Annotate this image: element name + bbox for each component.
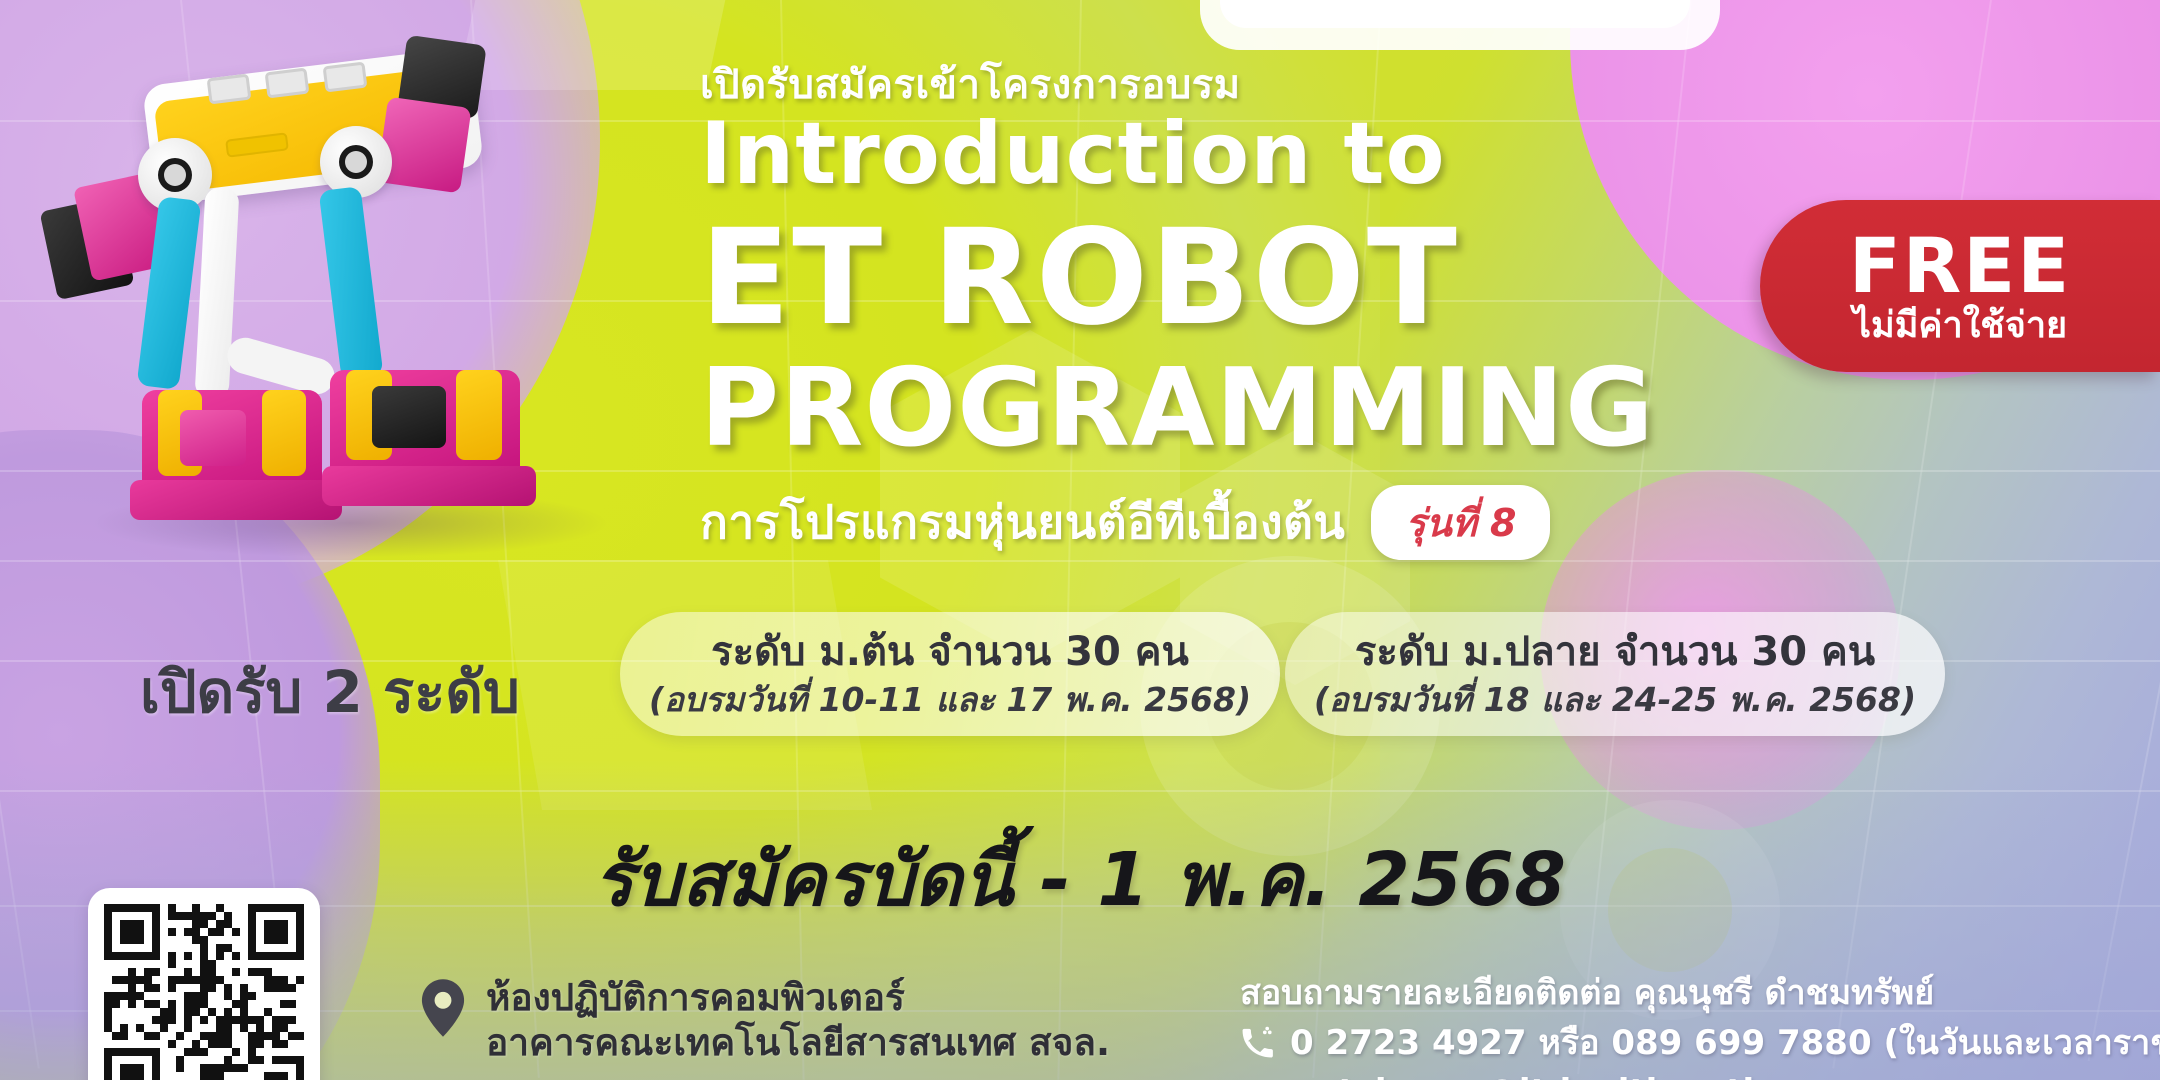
venue-line-2: อาคารคณะเทคโนโลยีสารสนเทศ สจล. [486, 1020, 1110, 1065]
title-line-3: PROGRAMMING [700, 355, 1655, 463]
lego-robot-photo [30, 18, 670, 578]
level-card-senior: ระดับ ม.ปลาย จำนวน 30 คน (อบรมวันที่ 18 … [1285, 612, 1945, 736]
subtitle-row: การโปรแกรมหุ่นยนต์อีทีเบื้องต้น รุ่นที่ … [700, 485, 1550, 560]
venue-line-1: ห้องปฏิบัติการคอมพิวเตอร์ [486, 975, 1110, 1020]
free-badge: FREE ไม่มีค่าใช้จ่าย [1760, 200, 2160, 372]
contact-phone: 0 2723 4927 หรือ 089 699 7880 (ในวันและเ… [1290, 1022, 2160, 1065]
contact-heading: สอบถามรายละเอียดติดต่อ คุณนุชรี ดำชมทรัพ… [1240, 972, 2160, 1015]
subtitle-thai: การโปรแกรมหุ่นยนต์อีทีเบื้องต้น [700, 486, 1345, 559]
venue-block: ห้องปฏิบัติการคอมพิวเตอร์ อาคารคณะเทคโนโ… [420, 975, 1110, 1065]
contact-block: สอบถามรายละเอียดติดต่อ คุณนุชรี ดำชมทรัพ… [1240, 972, 2160, 1080]
envelope-icon [1240, 1075, 1274, 1080]
contact-phone-row[interactable]: 0 2723 4927 หรือ 089 699 7880 (ในวันและเ… [1240, 1022, 2160, 1065]
levels-label: เปิดรับ 2 ระดับ [140, 645, 520, 738]
level-dates: (อบรมวันที่ 10-11 และ 17 พ.ค. 2568) [649, 680, 1251, 720]
level-title: ระดับ ม.ต้น จำนวน 30 คน [711, 629, 1189, 675]
title-line-1: Introduction to [700, 104, 1446, 204]
free-badge-label-en: FREE [1849, 228, 2071, 304]
batch-badge: รุ่นที่ 8 [1371, 485, 1550, 560]
promo-poster: เปิดรับสมัครเข้าโครงการอบรม Introduction… [0, 0, 2160, 1080]
phone-icon [1240, 1026, 1274, 1060]
registration-qr-code[interactable] [88, 888, 320, 1080]
level-dates: (อบรมวันที่ 18 และ 24-25 พ.ค. 2568) [1314, 680, 1916, 720]
venue-lines: ห้องปฏิบัติการคอมพิวเตอร์ อาคารคณะเทคโนโ… [486, 975, 1110, 1065]
contact-email: nutcharee@it.kmitl.ac.th [1290, 1071, 1767, 1080]
application-deadline: รับสมัครบัดนี้ - 1 พ.ค. 2568 [0, 820, 2160, 938]
level-card-junior: ระดับ ม.ต้น จำนวน 30 คน (อบรมวันที่ 10-1… [620, 612, 1280, 736]
map-pin-icon [420, 979, 466, 1037]
title-line-2: ET ROBOT [700, 212, 1459, 344]
qr-code-matrix [104, 904, 304, 1080]
free-badge-label-th: ไม่มีค่าใช้จ่าย [1853, 308, 2067, 344]
level-title: ระดับ ม.ปลาย จำนวน 30 คน [1355, 629, 1875, 675]
contact-email-row[interactable]: nutcharee@it.kmitl.ac.th [1240, 1071, 2160, 1080]
